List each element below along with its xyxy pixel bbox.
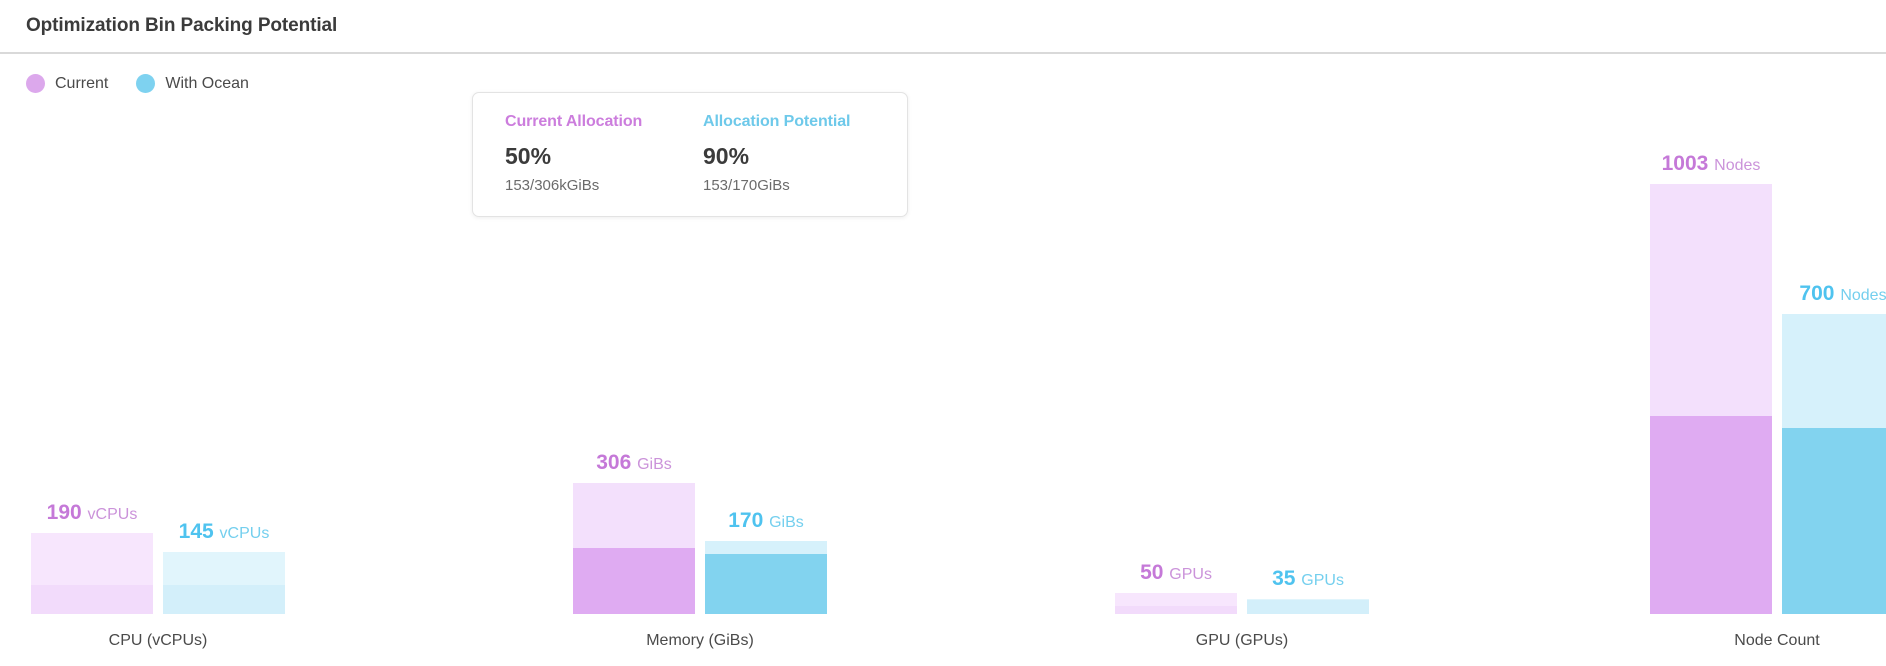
bar-slot: 700 Nodes <box>1782 54 1886 614</box>
bar-value-unit: GPUs <box>1169 566 1212 583</box>
summary-column-potential: Allocation Potential 90% 153/170GiBs <box>703 113 871 194</box>
bar-chart: 190 vCPUs145 vCPUsCPU (vCPUs)306 GiBs170… <box>0 54 1886 666</box>
bar-value-unit: GiBs <box>769 514 804 531</box>
bar-ocean[interactable] <box>1782 314 1886 614</box>
bar-group: 190 vCPUs145 vCPUsCPU (vCPUs) <box>18 54 298 666</box>
bar-unused-segment <box>163 552 285 585</box>
bar-value-unit: vCPUs <box>88 506 138 523</box>
bar-used-segment <box>1782 428 1886 614</box>
bar-group-bars: 50 GPUs35 GPUs <box>1102 54 1382 614</box>
bar-slot: 190 vCPUs <box>31 54 153 614</box>
legend-label: Current <box>55 75 108 93</box>
bar-used-segment <box>1650 416 1772 614</box>
bar-value-label: 190 vCPUs <box>47 502 138 523</box>
chart-legend: CurrentWith Ocean <box>26 74 249 93</box>
bar-used-segment <box>31 585 153 614</box>
bar-unused-segment <box>705 541 827 554</box>
bar-used-segment <box>1115 606 1237 614</box>
current-allocation-detail: 153/306kGiBs <box>505 177 673 194</box>
bar-group: 1003 Nodes700 NodesNode Count <box>1637 54 1886 666</box>
x-axis-category-label: GPU (GPUs) <box>1102 632 1382 650</box>
bar-slot: 1003 Nodes <box>1650 54 1772 614</box>
allocation-potential-percent: 90% <box>703 143 871 170</box>
page-title: Optimization Bin Packing Potential <box>26 15 337 37</box>
bar-value-number: 145 <box>179 520 214 543</box>
bar-current[interactable] <box>1650 184 1772 614</box>
bar-slot: 50 GPUs <box>1115 54 1237 614</box>
allocation-potential-detail: 153/170GiBs <box>703 177 871 194</box>
bar-value-number: 170 <box>728 509 763 532</box>
bar-value-label: 50 GPUs <box>1140 562 1212 583</box>
panel-header: Optimization Bin Packing Potential <box>0 0 1886 54</box>
legend-item-current[interactable]: Current <box>26 74 108 93</box>
bar-ocean[interactable] <box>163 552 285 614</box>
bar-value-label: 35 GPUs <box>1272 568 1344 589</box>
bar-value-number: 700 <box>1799 282 1834 305</box>
bar-value-number: 306 <box>596 451 631 474</box>
bin-packing-panel: Optimization Bin Packing Potential Curre… <box>0 0 1886 666</box>
summary-column-current: Current Allocation 50% 153/306kGiBs <box>505 113 673 194</box>
bar-current[interactable] <box>573 483 695 614</box>
bar-unused-segment <box>1782 314 1886 428</box>
bar-slot: 145 vCPUs <box>163 54 285 614</box>
bar-value-number: 190 <box>47 501 82 524</box>
x-axis-category-label: Memory (GiBs) <box>560 632 840 650</box>
current-allocation-heading: Current Allocation <box>505 113 673 131</box>
bar-value-unit: Nodes <box>1714 157 1760 174</box>
legend-item-with-ocean[interactable]: With Ocean <box>136 74 249 93</box>
bar-value-label: 306 GiBs <box>596 452 672 473</box>
circle-icon <box>136 74 155 93</box>
bar-slot: 35 GPUs <box>1247 54 1369 614</box>
bar-value-unit: GPUs <box>1301 572 1344 589</box>
bar-value-label: 145 vCPUs <box>179 521 270 542</box>
x-axis-category-label: Node Count <box>1637 632 1886 650</box>
bar-value-label: 700 Nodes <box>1799 283 1886 304</box>
bar-value-number: 50 <box>1140 561 1163 584</box>
bar-unused-segment <box>1650 184 1772 416</box>
bar-current[interactable] <box>31 533 153 614</box>
bar-value-number: 35 <box>1272 567 1295 590</box>
bar-value-label: 1003 Nodes <box>1662 153 1761 174</box>
bar-unused-segment <box>31 533 153 585</box>
bar-ocean[interactable] <box>705 541 827 614</box>
bar-used-segment <box>1247 600 1369 614</box>
bar-value-unit: GiBs <box>637 456 672 473</box>
bar-unused-segment <box>573 483 695 548</box>
bar-used-segment <box>705 554 827 614</box>
bar-value-unit: Nodes <box>1840 287 1886 304</box>
legend-label: With Ocean <box>165 75 249 93</box>
bar-current[interactable] <box>1115 593 1237 614</box>
chart-plot-area: 190 vCPUs145 vCPUsCPU (vCPUs)306 GiBs170… <box>0 54 1886 666</box>
bar-used-segment <box>573 548 695 614</box>
bar-ocean[interactable] <box>1247 599 1369 614</box>
current-allocation-percent: 50% <box>505 143 673 170</box>
bar-value-unit: vCPUs <box>220 525 270 542</box>
x-axis-category-label: CPU (vCPUs) <box>18 632 298 650</box>
bar-group-bars: 190 vCPUs145 vCPUs <box>18 54 298 614</box>
bar-group-bars: 1003 Nodes700 Nodes <box>1637 54 1886 614</box>
bar-value-label: 170 GiBs <box>728 510 804 531</box>
allocation-summary-card: Current Allocation 50% 153/306kGiBs Allo… <box>472 92 908 217</box>
circle-icon <box>26 74 45 93</box>
bar-value-number: 1003 <box>1662 152 1709 175</box>
bar-used-segment <box>163 585 285 614</box>
allocation-potential-heading: Allocation Potential <box>703 113 871 131</box>
bar-unused-segment <box>1115 593 1237 606</box>
bar-group: 50 GPUs35 GPUsGPU (GPUs) <box>1102 54 1382 666</box>
